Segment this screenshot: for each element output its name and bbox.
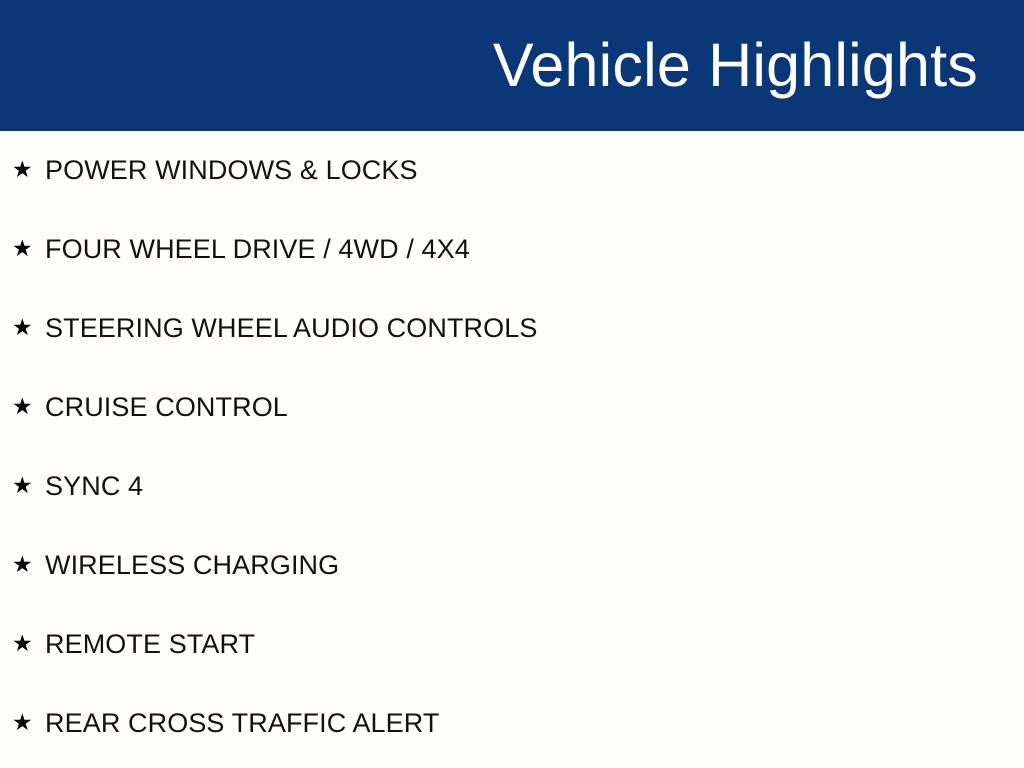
list-item-label: FOUR WHEEL DRIVE / 4WD / 4X4 [45, 236, 470, 263]
star-bullet-icon: ★ [12, 238, 45, 261]
list-item: ★ FOUR WHEEL DRIVE / 4WD / 4X4 [0, 210, 1024, 289]
star-bullet-icon: ★ [12, 396, 45, 419]
star-bullet-icon: ★ [12, 712, 45, 735]
vehicle-highlights-slide: Vehicle Highlights ★ POWER WINDOWS & LOC… [0, 0, 1024, 768]
list-item-label: REAR CROSS TRAFFIC ALERT [45, 710, 439, 737]
vehicle-highlights-list: ★ POWER WINDOWS & LOCKS ★ FOUR WHEEL DRI… [0, 131, 1024, 763]
star-bullet-icon: ★ [12, 633, 45, 656]
list-item-label: WIRELESS CHARGING [45, 552, 339, 579]
list-item-label: REMOTE START [45, 631, 255, 658]
list-item-label: POWER WINDOWS & LOCKS [45, 157, 418, 184]
header-bar: Vehicle Highlights [0, 0, 1024, 131]
star-bullet-icon: ★ [12, 554, 45, 577]
list-item: ★ SYNC 4 [0, 447, 1024, 526]
list-item-label: CRUISE CONTROL [45, 394, 288, 421]
list-item: ★ STEERING WHEEL AUDIO CONTROLS [0, 289, 1024, 368]
list-item: ★ CRUISE CONTROL [0, 368, 1024, 447]
page-title: Vehicle Highlights [493, 0, 978, 131]
star-bullet-icon: ★ [12, 317, 45, 340]
list-item: ★ WIRELESS CHARGING [0, 526, 1024, 605]
list-item: ★ POWER WINDOWS & LOCKS [0, 131, 1024, 210]
list-item-label: SYNC 4 [45, 473, 143, 500]
star-bullet-icon: ★ [12, 159, 45, 182]
list-item: ★ REMOTE START [0, 605, 1024, 684]
list-item: ★ REAR CROSS TRAFFIC ALERT [0, 684, 1024, 763]
star-bullet-icon: ★ [12, 475, 45, 498]
list-item-label: STEERING WHEEL AUDIO CONTROLS [45, 315, 537, 342]
